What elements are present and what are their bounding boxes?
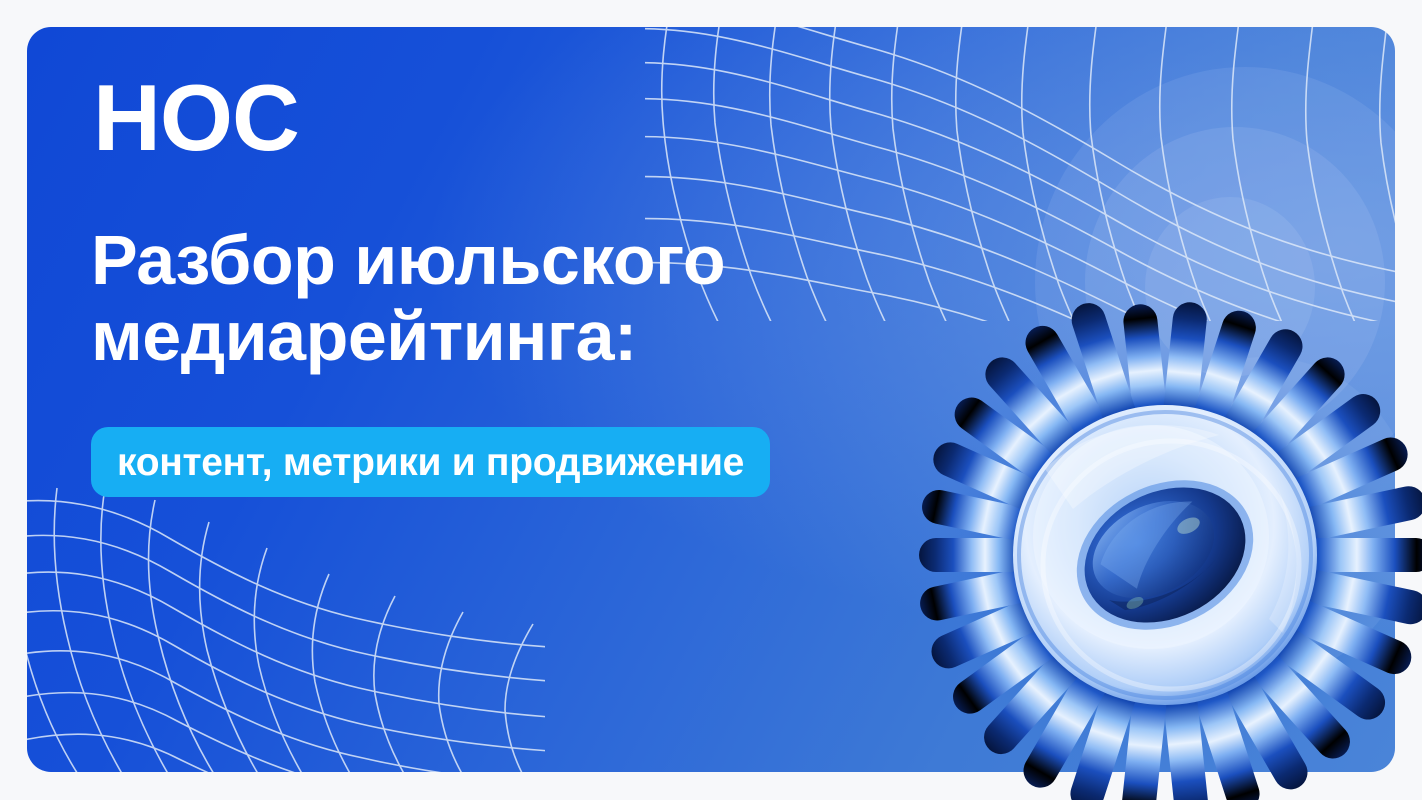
glow-circle-lower [1115, 357, 1395, 677]
title-card: НОС Разбор июльского медиарейтинга: конт… [27, 27, 1395, 772]
glow-circle-inner [1085, 127, 1385, 437]
slide-canvas: НОС Разбор июльского медиарейтинга: конт… [0, 0, 1422, 800]
page-title: Разбор июльского медиарейтинга: [91, 223, 901, 374]
subtitle-highlight-label: контент, метрики и продвижение [117, 443, 744, 482]
mesh-grid-bottom-left-icon [27, 482, 545, 772]
glow-circle-outer [1035, 67, 1395, 497]
subtitle-highlight-pill: контент, метрики и продвижение [91, 427, 770, 497]
glow-circle-core [1145, 197, 1315, 377]
brand-logo: НОС [93, 71, 299, 165]
